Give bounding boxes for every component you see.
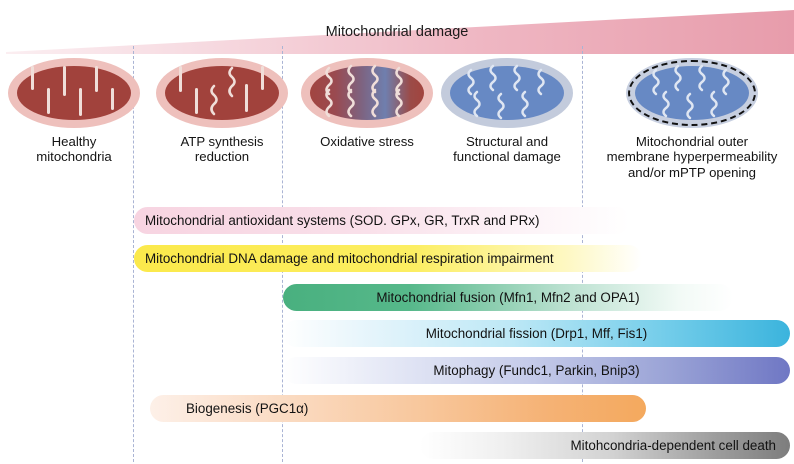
bar-mitochondrial-fusion: Mitochondrial fusion (Mfn1, Mfn2 and OPA…	[283, 284, 733, 311]
mitochondrion-structural-icon	[441, 58, 573, 128]
bar-mitophagy: Mitophagy (Fundc1, Parkin, Bnip3)	[283, 357, 790, 384]
mitochondrion-hyperpermeable-icon	[626, 58, 758, 128]
caption-line-1: Mitochondrial outer	[592, 134, 792, 149]
stage-caption-oxidative: Oxidative stress	[293, 134, 441, 149]
caption-line-1: Healthy	[0, 134, 148, 149]
bar-label: Mitophagy (Fundc1, Parkin, Bnip3)	[283, 363, 790, 378]
stage-structural-functional-damage: Structural and functional damage	[433, 58, 581, 165]
stage-healthy-mitochondria: Healthy mitochondria	[0, 58, 148, 165]
caption-line-3: and/or mPTP opening	[592, 165, 792, 180]
bar-mitochondrial-fission: Mitochondrial fission (Drp1, Mff, Fis1)	[283, 320, 790, 347]
bar-cell-death: Mitohcondria-dependent cell death	[420, 432, 790, 459]
caption-line-1: Oxidative stress	[293, 134, 441, 149]
caption-line-1: Structural and	[433, 134, 581, 149]
bar-label: Mitochondrial fission (Drp1, Mff, Fis1)	[283, 326, 790, 341]
bar-label: Mitochondrial DNA damage and mitochondri…	[145, 251, 642, 266]
mitochondrion-atp-icon	[156, 58, 288, 128]
bar-mtdna-damage-respiration: Mitochondrial DNA damage and mitochondri…	[134, 245, 642, 272]
dashed-membrane-indicator	[628, 60, 756, 126]
stage-caption-structural: Structural and functional damage	[433, 134, 581, 165]
bar-label: Mitochondrial fusion (Mfn1, Mfn2 and OPA…	[283, 290, 733, 305]
caption-line-2: membrane hyperpermeability	[592, 149, 792, 164]
stage-caption-hyperpermeability: Mitochondrial outer membrane hyperpermea…	[592, 134, 792, 180]
caption-line-2: mitochondria	[0, 149, 148, 164]
caption-line-2: functional damage	[433, 149, 581, 164]
caption-line-2: reduction	[148, 149, 296, 164]
mitochondrion-healthy-icon	[8, 58, 140, 128]
bar-label: Biogenesis (PGC1α)	[186, 401, 646, 416]
stage-oxidative-stress: Oxidative stress	[293, 58, 441, 149]
bar-label: Mitochondrial antioxidant systems (SOD. …	[145, 213, 630, 228]
mitochondrion-oxidative-icon	[301, 58, 433, 128]
stage-outer-membrane-hyperpermeability: Mitochondrial outer membrane hyperpermea…	[592, 58, 792, 180]
bar-label: Mitohcondria-dependent cell death	[420, 438, 776, 453]
stage-caption-healthy: Healthy mitochondria	[0, 134, 148, 165]
mitochondrial-damage-figure: Mitochondrial damage Healthy mitochondri…	[0, 0, 794, 464]
stage-atp-synthesis-reduction: ATP synthesis reduction	[148, 58, 296, 165]
wedge-title: Mitochondrial damage	[0, 8, 794, 56]
stage-caption-atp: ATP synthesis reduction	[148, 134, 296, 165]
mitochondrial-damage-wedge: Mitochondrial damage	[0, 8, 794, 56]
bar-antioxidant-systems: Mitochondrial antioxidant systems (SOD. …	[134, 207, 630, 234]
caption-line-1: ATP synthesis	[148, 134, 296, 149]
bar-biogenesis: Biogenesis (PGC1α)	[150, 395, 646, 422]
